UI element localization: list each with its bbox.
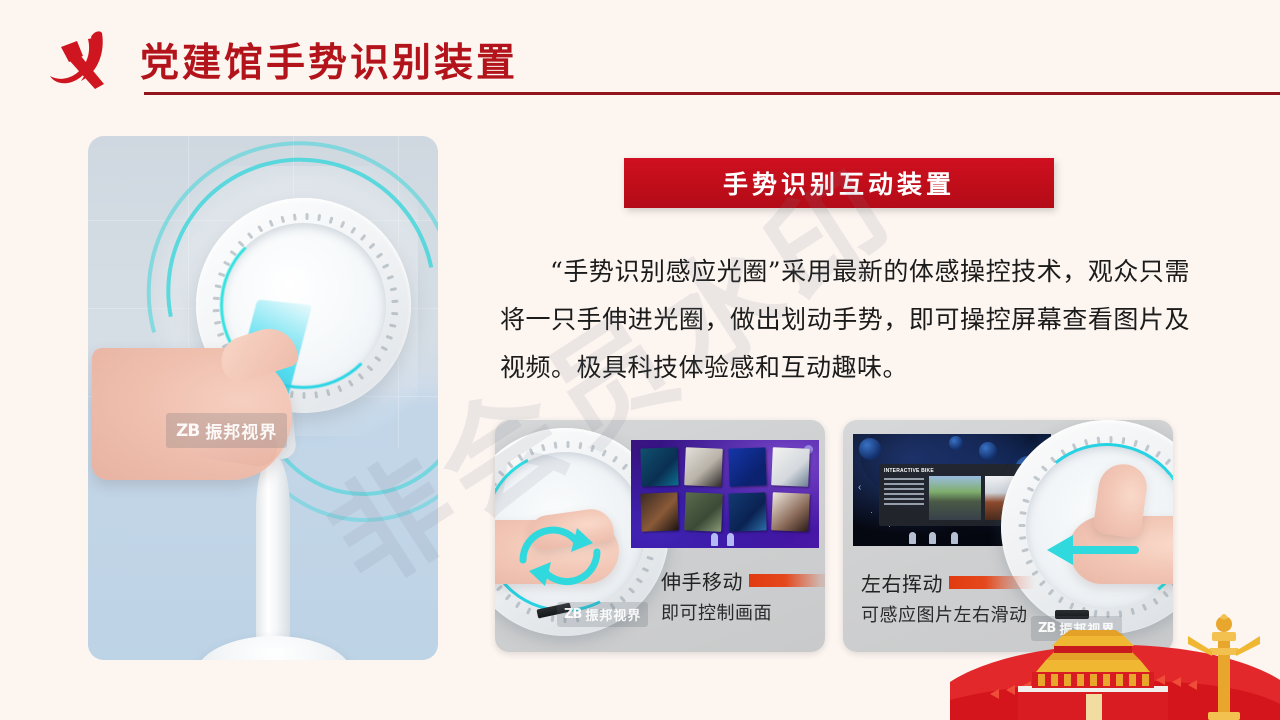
visitor-silhouettes	[907, 530, 967, 544]
photo-thumbnail	[728, 447, 766, 486]
device-stem	[256, 454, 290, 660]
page-title: 党建馆手势识别装置	[140, 32, 518, 88]
panel-body-text	[884, 478, 924, 508]
photo-wall-screen	[631, 440, 819, 548]
photo-thumbnail	[640, 447, 678, 486]
photo-thumbnail	[771, 447, 809, 486]
card-title: 左右挥动	[861, 568, 943, 597]
slide-header: 党建馆手势识别装置	[0, 0, 1280, 105]
photo-thumbnail	[640, 492, 678, 531]
panel-title: INTERACTIVE BIKE	[884, 468, 934, 474]
card-subtitle: 即可控制画面	[661, 599, 825, 625]
rotate-gesture-arrow-icon	[501, 502, 621, 610]
photo-thumbnail-grid	[641, 448, 809, 530]
card-title: 伸手移动	[661, 566, 743, 595]
sphere-decor	[859, 438, 881, 460]
body-paragraph: “手势识别感应光圈”采用最新的体感操控技术，观众只需将一只手伸进光圈，做出划动手…	[500, 248, 1190, 392]
section-banner: 手势识别互动装置	[624, 158, 1054, 208]
card-caption: 伸手移动 即可控制画面	[661, 566, 825, 625]
photo-thumbnail	[684, 447, 722, 486]
sphere-decor	[949, 436, 963, 450]
section-banner-title: 手势识别互动装置	[723, 165, 955, 201]
feature-card-reach-move[interactable]: 伸手移动 即可控制画面 ZB 振邦视界	[495, 420, 825, 652]
slide-canvas: 党建馆手势识别装置 ZB 振邦视界 手势识别互动装置 “手势识别感应	[0, 0, 1280, 720]
prev-arrow-icon[interactable]: ‹	[858, 482, 861, 493]
tiananmen-huabiao-decoration-icon	[950, 610, 1280, 720]
visitor-silhouettes	[709, 531, 743, 546]
title-underline	[144, 92, 1280, 95]
accent-bar	[749, 574, 825, 587]
sphere-decor	[979, 442, 997, 460]
photo-thumbnail	[771, 492, 809, 531]
photo-thumbnail	[728, 492, 766, 531]
swipe-left-arrow-icon	[1043, 530, 1139, 570]
panel-image	[929, 476, 981, 520]
cpc-hammer-sickle-emblem-icon	[47, 29, 115, 91]
accent-bar	[949, 576, 1035, 589]
hero-device-photo: ZB 振邦视界	[88, 136, 438, 660]
photo-thumbnail	[684, 492, 722, 531]
